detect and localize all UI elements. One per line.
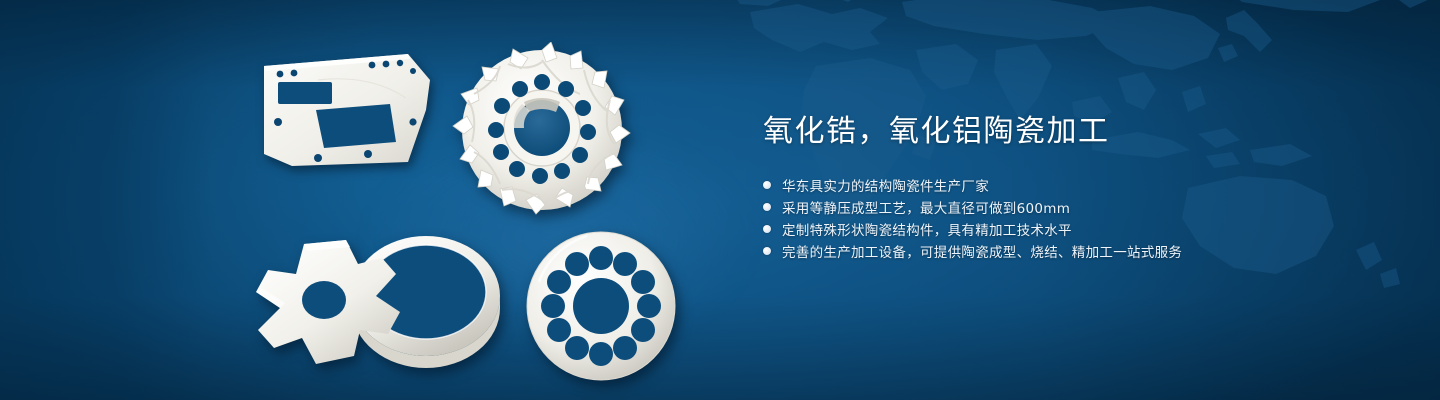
hero-banner: 氧化锆，氧化铝陶瓷加工 华东具实力的结构陶瓷件生产厂家 采用等静压成型工艺，最大… [0, 0, 1440, 400]
list-item: 采用等静压成型工艺，最大直径可做到600mm [763, 196, 1323, 218]
feature-text: 完善的生产加工设备，可提供陶瓷成型、烧结、精加工一站式服务 [782, 241, 1182, 261]
list-item: 定制特殊形状陶瓷结构件，具有精加工技术水平 [763, 218, 1323, 240]
bullet-dot-icon [763, 203, 771, 211]
bullet-dot-icon [763, 181, 771, 189]
bullet-dot-icon [763, 247, 771, 255]
bullet-dot-icon [763, 225, 771, 233]
banner-headline: 氧化锆，氧化铝陶瓷加工 [763, 112, 1323, 152]
ceramic-disc-image [525, 230, 677, 382]
product-image-cluster [240, 42, 710, 387]
banner-copy: 氧化锆，氧化铝陶瓷加工 华东具实力的结构陶瓷件生产厂家 采用等静压成型工艺，最大… [763, 112, 1323, 262]
feature-text: 采用等静压成型工艺，最大直径可做到600mm [782, 197, 1070, 217]
ceramic-cross-and-ring-image [244, 224, 512, 372]
ceramic-impeller-image [452, 42, 632, 217]
list-item: 华东具实力的结构陶瓷件生产厂家 [763, 174, 1323, 196]
list-item: 完善的生产加工设备，可提供陶瓷成型、烧结、精加工一站式服务 [763, 240, 1323, 262]
ceramic-plate-image [258, 50, 436, 170]
feature-text: 定制特殊形状陶瓷结构件，具有精加工技术水平 [782, 219, 1072, 239]
feature-text: 华东具实力的结构陶瓷件生产厂家 [782, 175, 989, 195]
feature-list: 华东具实力的结构陶瓷件生产厂家 采用等静压成型工艺，最大直径可做到600mm 定… [763, 174, 1323, 262]
